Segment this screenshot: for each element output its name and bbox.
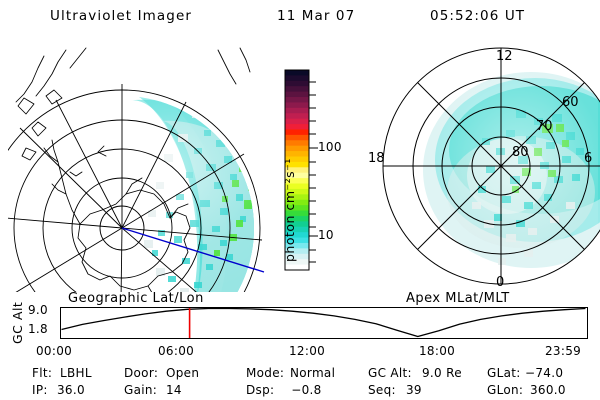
observation-date: 11 Mar 07 <box>277 8 355 24</box>
status-glat-value: −74.0 <box>525 366 563 380</box>
gc-alt-tick-min: 1.8 <box>28 322 48 336</box>
status-dsp-label: Dsp: <box>246 383 274 397</box>
gc-alt-trace-panel <box>60 307 588 339</box>
status-flt-value: LBHL <box>60 366 92 380</box>
geographic-polar-panel <box>8 44 270 292</box>
status-mode-value: Normal <box>290 366 335 380</box>
mlt-label-18: 18 <box>368 151 385 166</box>
time-tick-1200: 12:00 <box>289 344 325 358</box>
status-glon-value: 360.0 <box>530 383 566 397</box>
gc-alt-axis-label: GC Alt <box>10 284 25 344</box>
time-tick-0600: 06:00 <box>158 344 194 358</box>
mlt-label-6: 6 <box>584 151 592 166</box>
status-ip-value: 36.0 <box>57 383 85 397</box>
status-flt-label: Flt: <box>32 366 52 380</box>
time-tick-1800: 18:00 <box>419 344 455 358</box>
left-panel-title: Geographic Lat/Lon <box>68 291 204 306</box>
colorbar-axis-label: photon cm⁻²s⁻¹ <box>282 82 297 262</box>
status-glon-label: GLon: <box>487 383 523 397</box>
colorbar-tick-100: 100 <box>318 140 342 154</box>
time-tick-2359: 23:59 <box>545 344 581 358</box>
status-door-label: Door: <box>124 366 158 380</box>
uvi-summary-plot: Ultraviolet Imager 11 Mar 07 05:52:06 UT <box>0 0 600 400</box>
instrument-title: Ultraviolet Imager <box>50 8 192 24</box>
time-tick-0000: 00:00 <box>36 344 72 358</box>
status-seq-value: 39 <box>406 383 422 397</box>
intensity-colorbar: 100 10 <box>268 62 344 278</box>
colorbar-band <box>285 75 309 81</box>
colorbar-ticks <box>309 82 318 262</box>
status-gcalt-value: 9.0 Re <box>422 366 462 380</box>
mlt-label-12: 12 <box>496 49 513 64</box>
colorbar-tick-10: 10 <box>318 228 334 242</box>
right-panel-title: Apex MLat/MLT <box>406 291 510 306</box>
status-gain-value: 14 <box>166 383 182 397</box>
gc-alt-curve <box>62 309 586 337</box>
magnetic-polar-panel: 12 0 18 6 60 70 80 <box>366 44 598 292</box>
status-ip-label: IP: <box>32 383 48 397</box>
status-mode-label: Mode: <box>246 366 284 380</box>
status-dsp-value: −0.8 <box>283 383 322 397</box>
status-door-value: Open <box>166 366 199 380</box>
gc-alt-tick-max: 9.0 <box>28 303 48 317</box>
mlat-label-80: 80 <box>512 145 529 160</box>
status-glat-label: GLat: <box>487 366 521 380</box>
aurora-emission-right <box>366 44 600 292</box>
status-seq-label: Seq: <box>368 383 396 397</box>
status-gcalt-label: GC Alt: <box>368 366 412 380</box>
status-gain-label: Gain: <box>124 383 157 397</box>
mlt-label-0: 0 <box>496 275 504 290</box>
mlat-label-70: 70 <box>536 119 553 134</box>
mlat-label-60: 60 <box>562 95 579 110</box>
observation-time: 05:52:06 UT <box>430 8 525 24</box>
colorbar-band <box>285 70 309 76</box>
